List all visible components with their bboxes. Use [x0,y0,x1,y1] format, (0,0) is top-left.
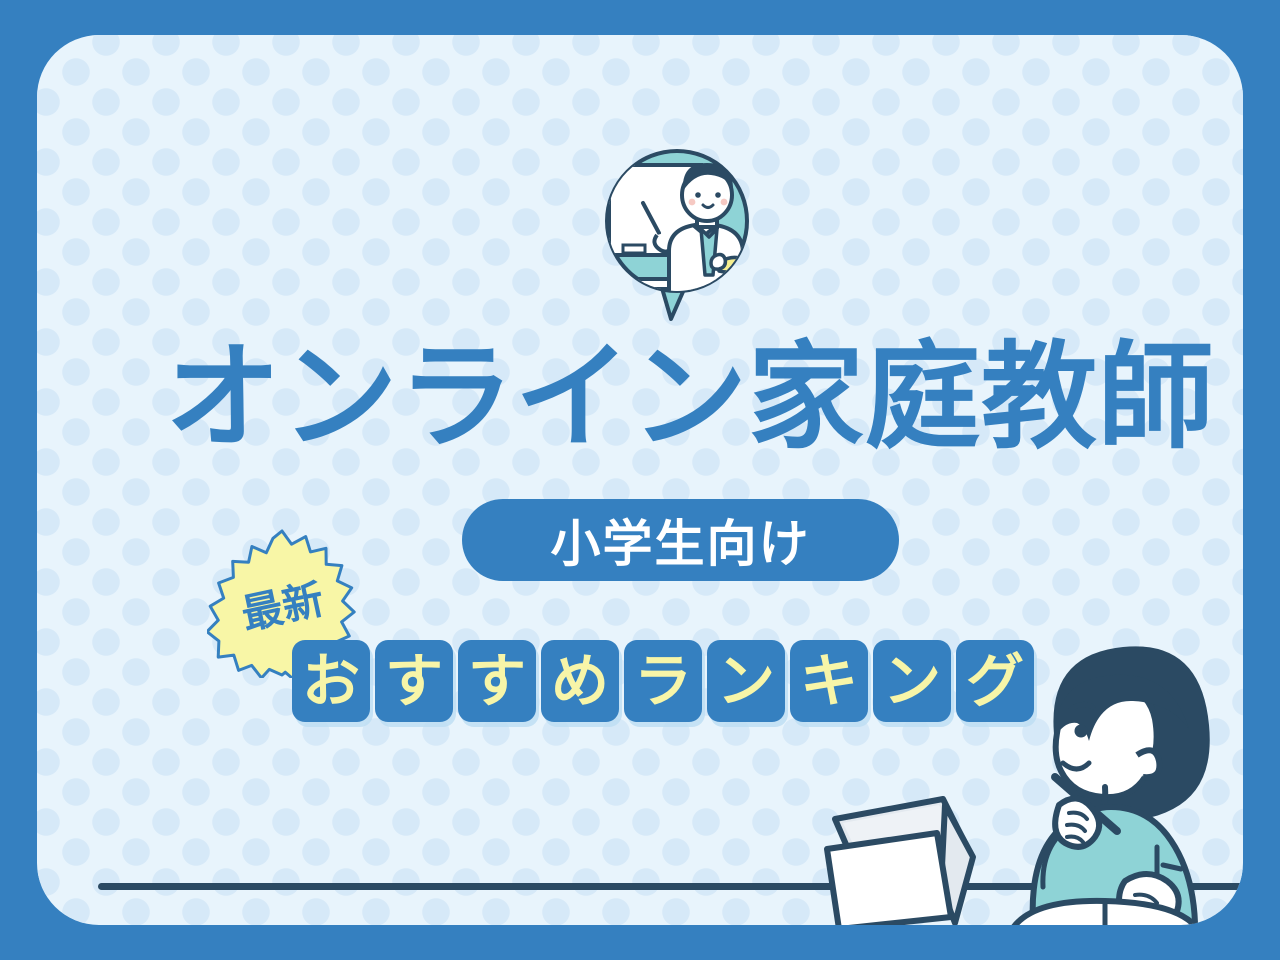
ranking-tile: ン [707,640,785,722]
ranking-tile: ン [873,640,951,722]
banner-card: オンライン家庭教師 小学生向け 最新 お す す め ラ ン キ ン グ [37,35,1243,925]
ranking-tile: キ [790,640,868,722]
ranking-tile: ラ [624,640,702,722]
teacher-speech-bubble-icon [597,143,757,323]
ranking-tile: め [541,640,619,722]
ranking-tile: す [375,640,453,722]
ranking-tile-group: お す す め ラ ン キ ン グ [292,640,1034,722]
student-thinking-with-pencil-illustration [997,637,1243,925]
banner-root: オンライン家庭教師 小学生向け 最新 お す す め ラ ン キ ン グ [0,0,1280,960]
ranking-tile: お [292,640,370,722]
ranking-tile: す [458,640,536,722]
target-audience-badge: 小学生向け [462,499,899,581]
tablet-on-stand-illustration [815,787,995,925]
page-title: オンライン家庭教師 [165,335,1205,460]
target-audience-badge-label: 小学生向け [551,504,811,576]
